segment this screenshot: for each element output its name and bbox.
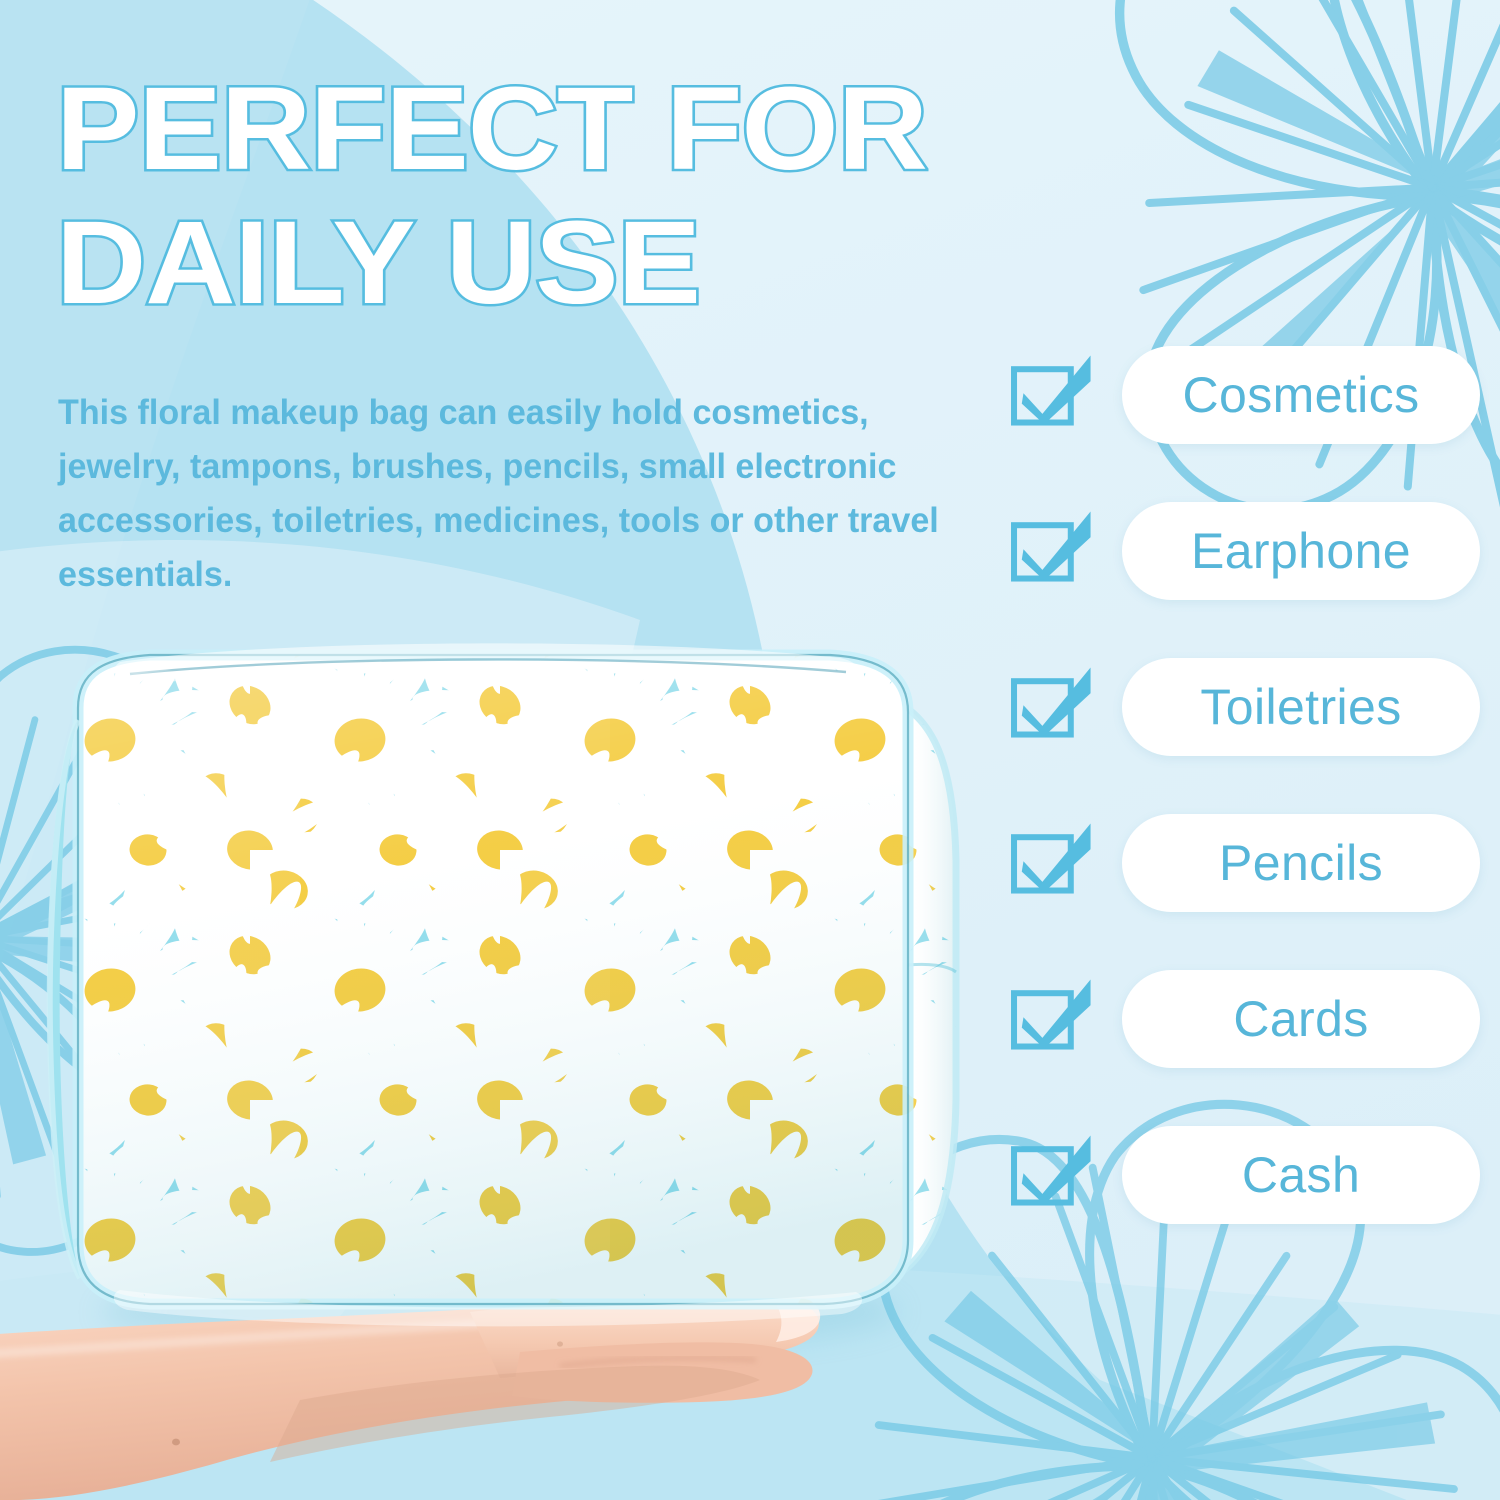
checklist-pill[interactable]: Earphone [1122,502,1480,600]
product-photo [0,600,1010,1500]
body-paragraph: This floral makeup bag can easily hold c… [58,386,960,602]
product-marketing-image: PERFECT FOR DAILY USE This floral makeup… [0,0,1500,1500]
checklist-item[interactable]: Pencils [1008,814,1480,912]
checklist-label: Cosmetics [1183,370,1420,420]
checklist-pill[interactable]: Cash [1122,1126,1480,1224]
makeup-bag [48,640,980,1330]
checkbox-checked-icon[interactable] [1008,506,1094,592]
checkbox-checked-icon[interactable] [1008,974,1094,1060]
feature-checklist: Cosmetics Earphone Toiletries [1008,346,1480,1224]
headline-line-1: PERFECT FOR [56,72,1074,188]
checklist-item[interactable]: Cosmetics [1008,346,1480,444]
checklist-pill[interactable]: Cards [1122,970,1480,1068]
checklist-item[interactable]: Toiletries [1008,658,1480,756]
checklist-label: Cash [1242,1150,1360,1200]
checklist-pill[interactable]: Pencils [1122,814,1480,912]
checklist-label: Earphone [1191,526,1411,576]
checklist-label: Pencils [1219,838,1383,888]
checklist-pill[interactable]: Cosmetics [1122,346,1480,444]
headline: PERFECT FOR DAILY USE [56,72,1016,339]
checklist-label: Toiletries [1200,682,1401,732]
checklist-item[interactable]: Cash [1008,1126,1480,1224]
checklist-item[interactable]: Earphone [1008,502,1480,600]
headline-line-2: DAILY USE [56,206,1074,322]
bag-front-panel [60,640,940,1330]
checkbox-checked-icon[interactable] [1008,1130,1094,1216]
checkbox-checked-icon[interactable] [1008,350,1094,436]
checklist-label: Cards [1233,994,1368,1044]
checkbox-checked-icon[interactable] [1008,662,1094,748]
checkbox-checked-icon[interactable] [1008,818,1094,904]
checklist-pill[interactable]: Toiletries [1122,658,1480,756]
checklist-item[interactable]: Cards [1008,970,1480,1068]
